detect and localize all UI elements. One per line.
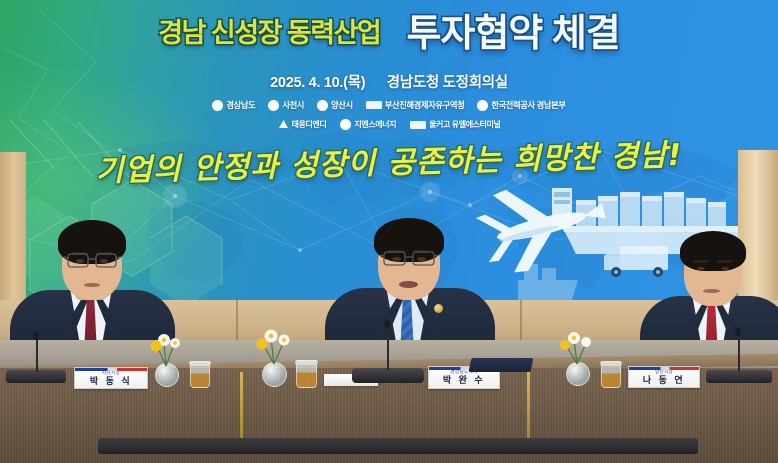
delivery-truck — [600, 238, 686, 284]
nameplate-right: 양산시장 나 동 연 — [628, 366, 700, 388]
tea-cup-left — [190, 364, 210, 388]
logo-label: 태웅디엔디 — [292, 119, 327, 130]
logo-kepco: 한국전력공사 경남본부 — [477, 99, 565, 111]
lapel-pin — [434, 304, 443, 313]
eye — [697, 267, 705, 270]
circle-mark-icon — [212, 100, 223, 111]
table-gold-trim — [240, 372, 243, 438]
nameplate-left: 사천시장 박 동 식 — [74, 367, 148, 389]
eyebrow — [717, 260, 733, 263]
event-venue: 경남도청 도정회의실 — [387, 75, 508, 91]
logo-siemens-energy: 지멘스에너지 — [340, 119, 396, 130]
logo-uls-terminal: 울커고 유엘에스터미널 — [410, 119, 500, 130]
logo-sacheon: 사천시 — [268, 99, 304, 111]
title-green-part: 경남 신성장 동력산업 — [158, 18, 380, 48]
flower-bouquet-center-right — [554, 318, 602, 366]
bar-mark-icon — [410, 121, 426, 129]
microphone-base-center — [352, 368, 424, 383]
table-foot-rail — [98, 438, 698, 454]
tea-cup-center-left — [296, 363, 317, 388]
microphone-head-left — [33, 332, 39, 340]
circle-mark-icon — [268, 100, 279, 111]
logo-label: 한국전력공사 경남본부 — [491, 99, 565, 111]
nameplate-name: 박 완 수 — [443, 375, 485, 386]
kepco-mark-icon — [477, 100, 488, 111]
tea-cup-lid-left — [189, 361, 211, 366]
flower-bouquet-left — [144, 320, 192, 368]
mouth — [703, 289, 720, 293]
logo-label: 양산시 — [331, 99, 353, 111]
eyebrow — [693, 260, 709, 263]
logo-label: 울커고 유엘에스터미널 — [429, 119, 500, 130]
tea-cup-lid-center-left — [295, 360, 318, 365]
logo-label: 사천시 — [282, 99, 304, 111]
mouth-open — [399, 281, 418, 288]
nameplate-name: 나 동 연 — [643, 375, 685, 386]
tea-cup-lid-center-right — [600, 361, 622, 366]
eyeglasses — [64, 250, 122, 270]
triangle-mark-icon — [278, 119, 289, 130]
logo-taewoong-dnd: 태웅디엔디 — [278, 119, 327, 130]
conference-photo: 경남 신성장 동력산업 투자협약 체결 2025. 4. 10.(목) 경남도청… — [0, 0, 778, 463]
logo-yangsan: 양산시 — [317, 99, 353, 111]
folder-center — [469, 358, 534, 372]
table-gold-trim — [527, 372, 530, 438]
tea-cup-center-right — [601, 364, 621, 388]
circle-mark-icon — [317, 100, 328, 111]
flower-bouquet-center-left — [250, 316, 300, 366]
microphone-stem-center — [387, 328, 389, 370]
page-title: 경남 신성장 동력산업 투자협약 체결 — [0, 8, 778, 60]
event-subtitle: 2025. 4. 10.(목) 경남도청 도정회의실 — [0, 71, 778, 92]
swoosh-mark-icon — [366, 101, 382, 109]
event-date: 2025. 4. 10.(목) — [270, 75, 365, 91]
mouth — [84, 283, 100, 287]
logo-label: 부산진해경제자유구역청 — [385, 99, 465, 111]
g-mark-icon — [340, 119, 351, 130]
logo-label: 지멘스에너지 — [354, 119, 396, 130]
partner-logo-row-1: 경상남도 사천시 양산시 부산진해경제자유구역청 한국전력공사 경남본부 — [0, 99, 778, 111]
microphone-head-center — [384, 320, 390, 328]
title-white-part: 투자협약 체결 — [406, 13, 619, 55]
microphone-head-right — [735, 328, 741, 336]
hair — [680, 231, 746, 271]
eyeglasses — [380, 248, 440, 268]
logo-bjfez: 부산진해경제자유구역청 — [366, 99, 465, 111]
airplane — [460, 178, 610, 278]
logo-gyeongsangnamdo: 경상남도 — [212, 99, 255, 111]
nameplate-name: 박 동 식 — [90, 376, 132, 387]
microphone-stem-left — [36, 340, 38, 372]
partner-logo-row-2: 태웅디엔디 지멘스에너지 울커고 유엘에스터미널 — [0, 119, 778, 130]
eye — [721, 267, 729, 270]
nameplate-color-bar — [629, 367, 699, 370]
nameplate-color-bar — [75, 368, 147, 371]
microphone-stem-right — [738, 336, 740, 372]
logo-label: 경상남도 — [226, 99, 255, 111]
